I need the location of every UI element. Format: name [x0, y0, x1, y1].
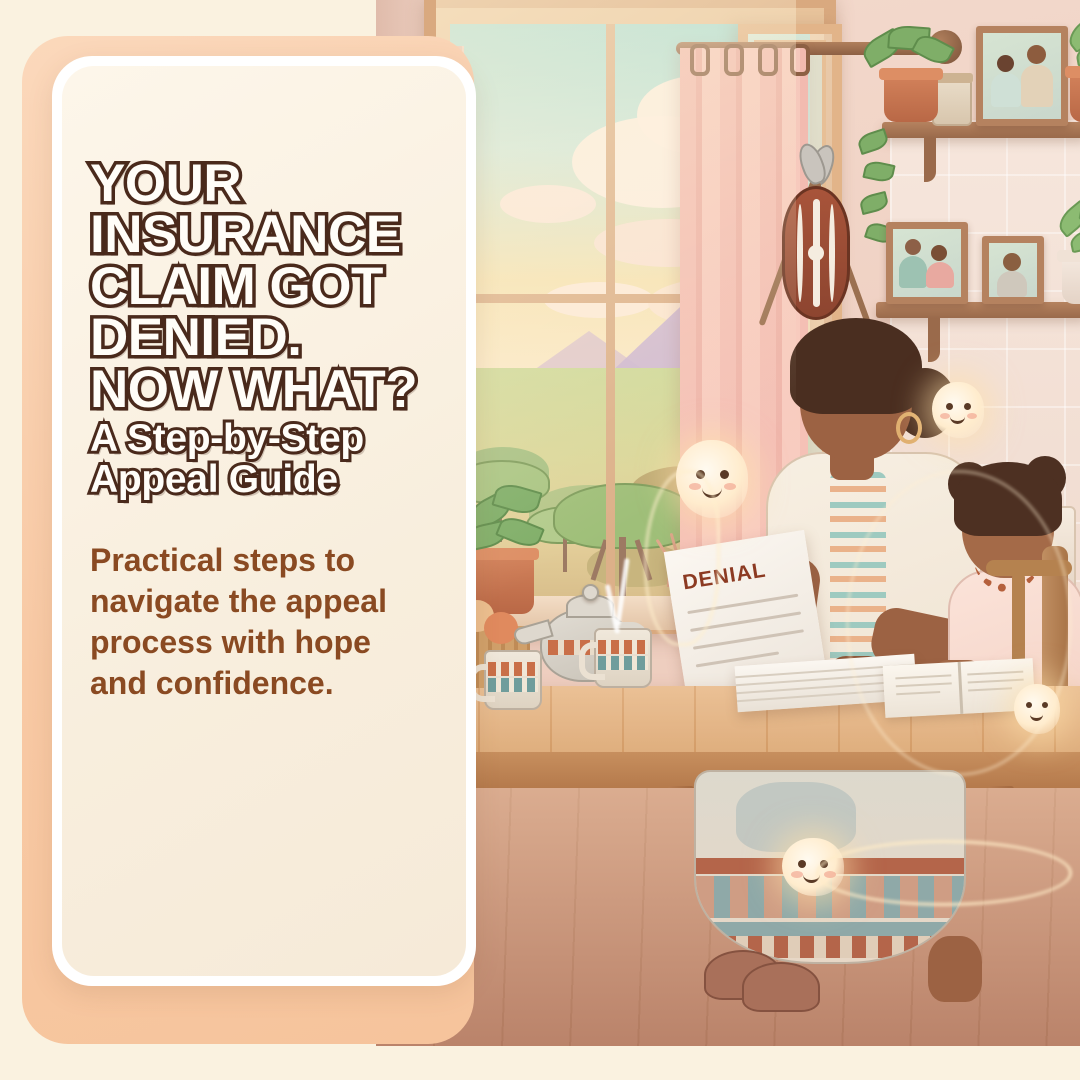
curtain-ring	[724, 44, 744, 76]
headline-line-4: DENIED.	[90, 312, 446, 363]
headline-line-1: YOUR	[90, 158, 446, 209]
headline-line-2: INSURANCE	[90, 209, 446, 260]
shelf-plant-pot	[1070, 74, 1080, 122]
cloud	[500, 185, 596, 223]
page-subtitle: A Step-by-Step Appeal Guide	[90, 419, 446, 500]
curtain-ring	[690, 44, 710, 76]
mother-hair	[790, 318, 922, 414]
fruit	[484, 612, 518, 644]
blurb-line-2: navigate the appeal	[90, 581, 446, 622]
maasai-shield-icon	[782, 186, 850, 320]
wall-shelf-lower	[876, 302, 1080, 318]
bare-foot	[928, 936, 982, 1002]
sprite-trail	[816, 840, 1072, 906]
headline-line-5: NOW WHAT?	[90, 364, 446, 415]
page-title: YOUR INSURANCE CLAIM GOT DENIED. NOW WHA…	[90, 158, 446, 415]
shelf-bracket	[928, 318, 940, 362]
framed-photo-child	[982, 236, 1044, 304]
framed-photo-family	[976, 26, 1068, 126]
hanging-plant-pot	[884, 76, 938, 122]
poster-canvas: DENIAL	[0, 0, 1080, 1080]
headline-line-3: CLAIM GOT	[90, 261, 446, 312]
glowing-sprite	[932, 382, 984, 438]
subhead-line-2: Appeal Guide	[90, 460, 446, 501]
blurb-line-1: Practical steps to	[90, 540, 446, 581]
illustration-artwork: DENIAL	[376, 0, 1080, 1046]
blurb-line-4: and confidence.	[90, 663, 446, 704]
curtain-ring	[790, 44, 810, 76]
curtain-ring	[758, 44, 778, 76]
text-card: YOUR INSURANCE CLAIM GOT DENIED. NOW WHA…	[62, 66, 466, 976]
framed-photo-couple	[886, 222, 968, 304]
storage-jar	[932, 78, 972, 126]
card-content: YOUR INSURANCE CLAIM GOT DENIED. NOW WHA…	[90, 158, 446, 704]
earring	[896, 412, 922, 444]
shelf-plant-pot	[1062, 258, 1080, 304]
sprite-trail	[846, 470, 1072, 776]
blurb-line-3: process with hope	[90, 622, 446, 663]
mug-left	[484, 650, 542, 710]
mug-right	[594, 628, 652, 688]
shelf-bracket	[924, 138, 936, 182]
shoe	[742, 962, 820, 1012]
page-blurb: Practical steps to navigate the appeal p…	[90, 540, 446, 704]
subhead-line-1: A Step-by-Step	[90, 419, 446, 460]
window-mullion	[606, 24, 615, 598]
